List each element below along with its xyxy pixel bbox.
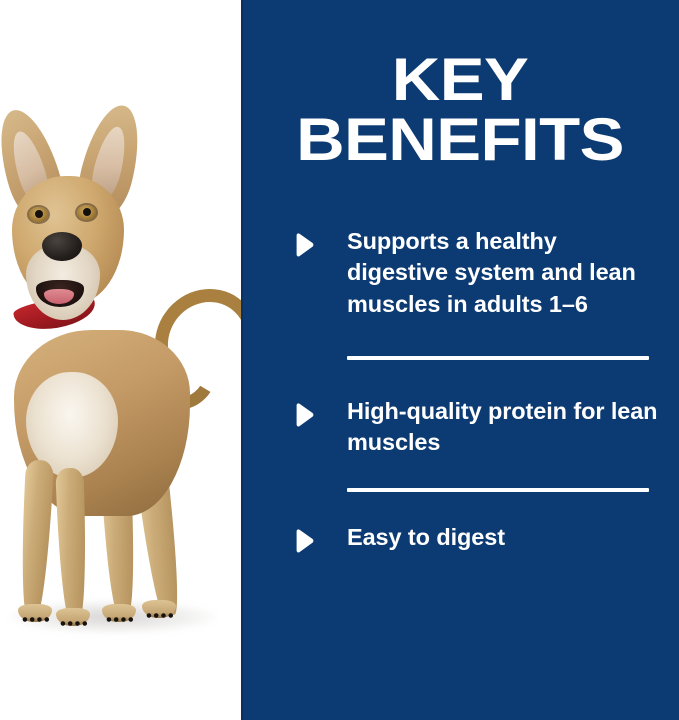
list-item: Supports a healthy digestive system and …	[293, 226, 659, 320]
dog-paw	[18, 604, 52, 622]
key-benefits-poster: KEY BENEFITS Supports a healthy digestiv…	[0, 0, 679, 720]
bullet-wrap	[293, 226, 347, 257]
dog-photo-panel	[0, 0, 241, 720]
spacer	[293, 492, 659, 522]
dog-illustration	[0, 0, 241, 720]
page-title-line-1: KEY	[215, 52, 679, 108]
spacer	[293, 360, 659, 396]
spacer	[293, 458, 659, 488]
page-title-line-2: BENEFITS	[215, 112, 679, 168]
dog-nose	[42, 232, 82, 261]
dog-paw	[102, 604, 136, 622]
dog-photo	[0, 0, 241, 720]
dog-paw	[56, 608, 90, 626]
dog-front-right-leg	[55, 468, 88, 621]
benefits-panel: KEY BENEFITS Supports a healthy digestiv…	[241, 0, 679, 720]
dog-right-eye	[77, 205, 96, 220]
benefits-list: Supports a healthy digestive system and …	[293, 226, 659, 554]
dog-left-eye	[29, 207, 48, 222]
play-triangle-icon	[293, 529, 315, 553]
bullet-wrap	[293, 522, 347, 553]
dog-front-left-leg	[18, 459, 54, 616]
benefit-text: High-quality protein for lean muscles	[347, 396, 659, 459]
benefit-text: Easy to digest	[347, 522, 659, 553]
benefit-text: Supports a healthy digestive system and …	[347, 226, 659, 320]
dog-paw	[142, 600, 176, 618]
page-title: KEY BENEFITS	[241, 52, 679, 168]
play-triangle-icon	[293, 403, 315, 427]
bullet-wrap	[293, 396, 347, 427]
list-item: Easy to digest	[293, 522, 659, 553]
spacer	[293, 320, 659, 356]
play-triangle-icon	[293, 233, 315, 257]
list-item: High-quality protein for lean muscles	[293, 396, 659, 459]
